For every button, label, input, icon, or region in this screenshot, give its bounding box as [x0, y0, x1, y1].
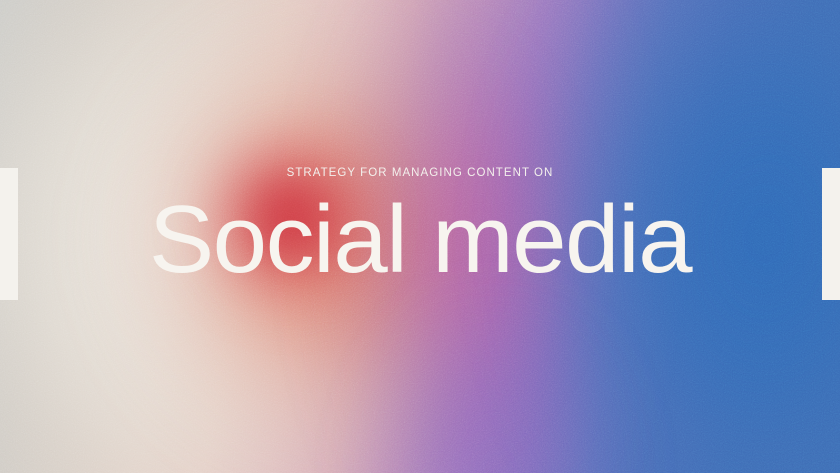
magenta-glow-layer: [336, 0, 622, 473]
cream-glow-layer: [0, 0, 470, 473]
eyebrow-text: STRATEGY FOR MANAGING CONTENT ON: [0, 168, 840, 180]
title-block: STRATEGY FOR MANAGING CONTENT ON Social …: [0, 168, 840, 284]
right-marker-bar: [822, 168, 840, 300]
left-marker-bar: [0, 168, 18, 300]
film-grain-texture: [0, 0, 840, 473]
blue-glow-layer: [504, 0, 840, 473]
coral-glow-layer: [101, 0, 571, 473]
title-slide: STRATEGY FOR MANAGING CONTENT ON Social …: [0, 0, 840, 473]
page-title: Social media: [0, 196, 840, 284]
crimson-core-glow-layer: [197, 114, 382, 322]
lower-violet-glow-layer: [370, 303, 622, 473]
